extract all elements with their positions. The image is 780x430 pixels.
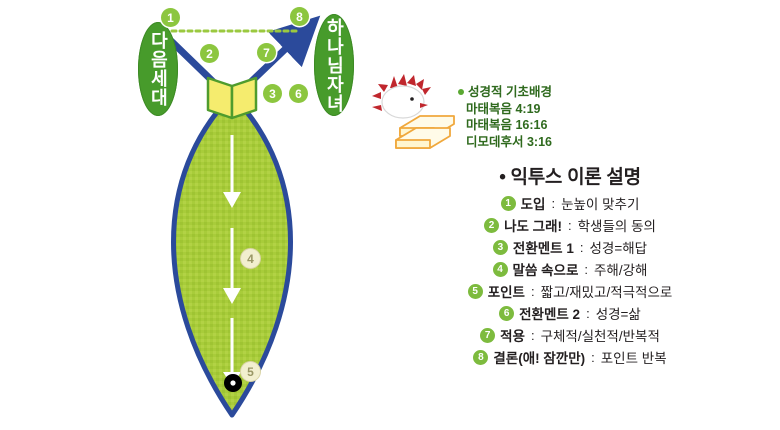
chick-body	[382, 86, 424, 118]
step-label: 전환멘트 2	[519, 303, 580, 323]
theory-step-item: 1 도입 : 눈높이 맞추기	[360, 192, 780, 214]
step-label: 포인트	[488, 281, 525, 301]
theory-step-list: 1 도입 : 눈높이 맞추기 2 나도 그래! : 학생들의 동의 3 전환멘트…	[360, 192, 780, 368]
fish-eye-highlight	[230, 380, 235, 385]
oval-label-next-generation: 다음세대	[138, 22, 178, 116]
step-number: 7	[480, 328, 495, 343]
step-badge-5: 5	[240, 361, 261, 382]
chick-eye	[410, 97, 414, 101]
fish-diagram: 다음세대 하나님자녀 1 2 7 8 3 6 4 5	[0, 0, 360, 430]
scripture-reference-block: 성경적 기초배경 마태복음 4:19 마태복음 16:16 디모데후서 3:16	[370, 72, 600, 152]
step-separator: :	[567, 218, 573, 233]
fish-diagram-graphics	[0, 0, 360, 430]
step-number: 1	[501, 196, 516, 211]
step-value: 학생들의 동의	[578, 215, 656, 235]
scripture-text-group: 성경적 기초배경 마태복음 4:19 마태복음 16:16 디모데후서 3:16	[458, 84, 552, 150]
step-number: 5	[468, 284, 483, 299]
theory-step-item: 5 포인트 : 짧고/재밌고/적극적으로	[360, 280, 780, 302]
step-badge-6: 6	[289, 84, 308, 103]
theory-step-item: 3 전환멘트 1 : 성경=해답	[360, 236, 780, 258]
theory-step-item: 6 전환멘트 2 : 성경=삶	[360, 302, 780, 324]
step-badge-3: 3	[263, 84, 282, 103]
step-separator: :	[590, 350, 596, 365]
step-separator: :	[550, 196, 556, 211]
step-number: 3	[493, 240, 508, 255]
step-value: 주해/강해	[594, 259, 647, 279]
step-separator: :	[530, 284, 536, 299]
step-badge-1: 1	[161, 8, 180, 27]
step-number: 6	[499, 306, 514, 321]
explanation-panel: 성경적 기초배경 마태복음 4:19 마태복음 16:16 디모데후서 3:16…	[360, 0, 780, 430]
step-label: 나도 그래!	[504, 215, 562, 235]
chick-and-books-icon	[370, 72, 456, 150]
step-separator: :	[579, 240, 585, 255]
scripture-verse-3: 디모데후서 3:16	[458, 134, 552, 151]
bullet-icon	[458, 89, 464, 95]
step-separator: :	[583, 262, 589, 277]
step-badge-7: 7	[257, 43, 276, 62]
step-number: 4	[493, 262, 508, 277]
scripture-verse-1: 마태복음 4:19	[458, 101, 552, 118]
step-value: 구체적/실천적/반복적	[541, 325, 660, 345]
open-book-icon	[208, 78, 256, 118]
step-separator: :	[530, 328, 536, 343]
stacked-books-icon	[396, 116, 454, 148]
oval-label-gods-children: 하나님자녀	[314, 14, 354, 116]
scripture-verse-2: 마태복음 16:16	[458, 117, 552, 134]
step-value: 성경=삶	[596, 303, 641, 323]
theory-step-item: 8 결론(애! 잠깐만) : 포인트 반복	[360, 346, 780, 368]
step-badge-8: 8	[290, 7, 309, 26]
scripture-title-row: 성경적 기초배경	[458, 84, 552, 101]
theory-title: • 익투스 이론 설명	[372, 162, 768, 189]
step-badge-2: 2	[200, 44, 219, 63]
step-label: 말씀 속으로	[513, 259, 579, 279]
theory-step-item: 7 적용 : 구체적/실천적/반복적	[360, 324, 780, 346]
step-value: 성경=해답	[590, 237, 648, 257]
step-value: 포인트 반복	[601, 347, 667, 367]
ichthus-theory-diagram: 다음세대 하나님자녀 1 2 7 8 3 6 4 5	[0, 0, 780, 430]
theory-step-item: 4 말씀 속으로 : 주해/강해	[360, 258, 780, 280]
step-value: 짧고/재밌고/적극적으로	[541, 281, 673, 301]
step-label: 결론(애! 잠깐만)	[493, 347, 585, 367]
step-number: 8	[473, 350, 488, 365]
step-label: 적용	[500, 325, 525, 345]
step-badge-4: 4	[240, 248, 261, 269]
theory-step-item: 2 나도 그래! : 학생들의 동의	[360, 214, 780, 236]
step-value: 눈높이 맞추기	[561, 193, 639, 213]
scripture-title: 성경적 기초배경	[468, 84, 552, 101]
step-number: 2	[484, 218, 499, 233]
step-label: 전환멘트 1	[513, 237, 574, 257]
step-label: 도입	[521, 193, 546, 213]
step-separator: :	[585, 306, 591, 321]
